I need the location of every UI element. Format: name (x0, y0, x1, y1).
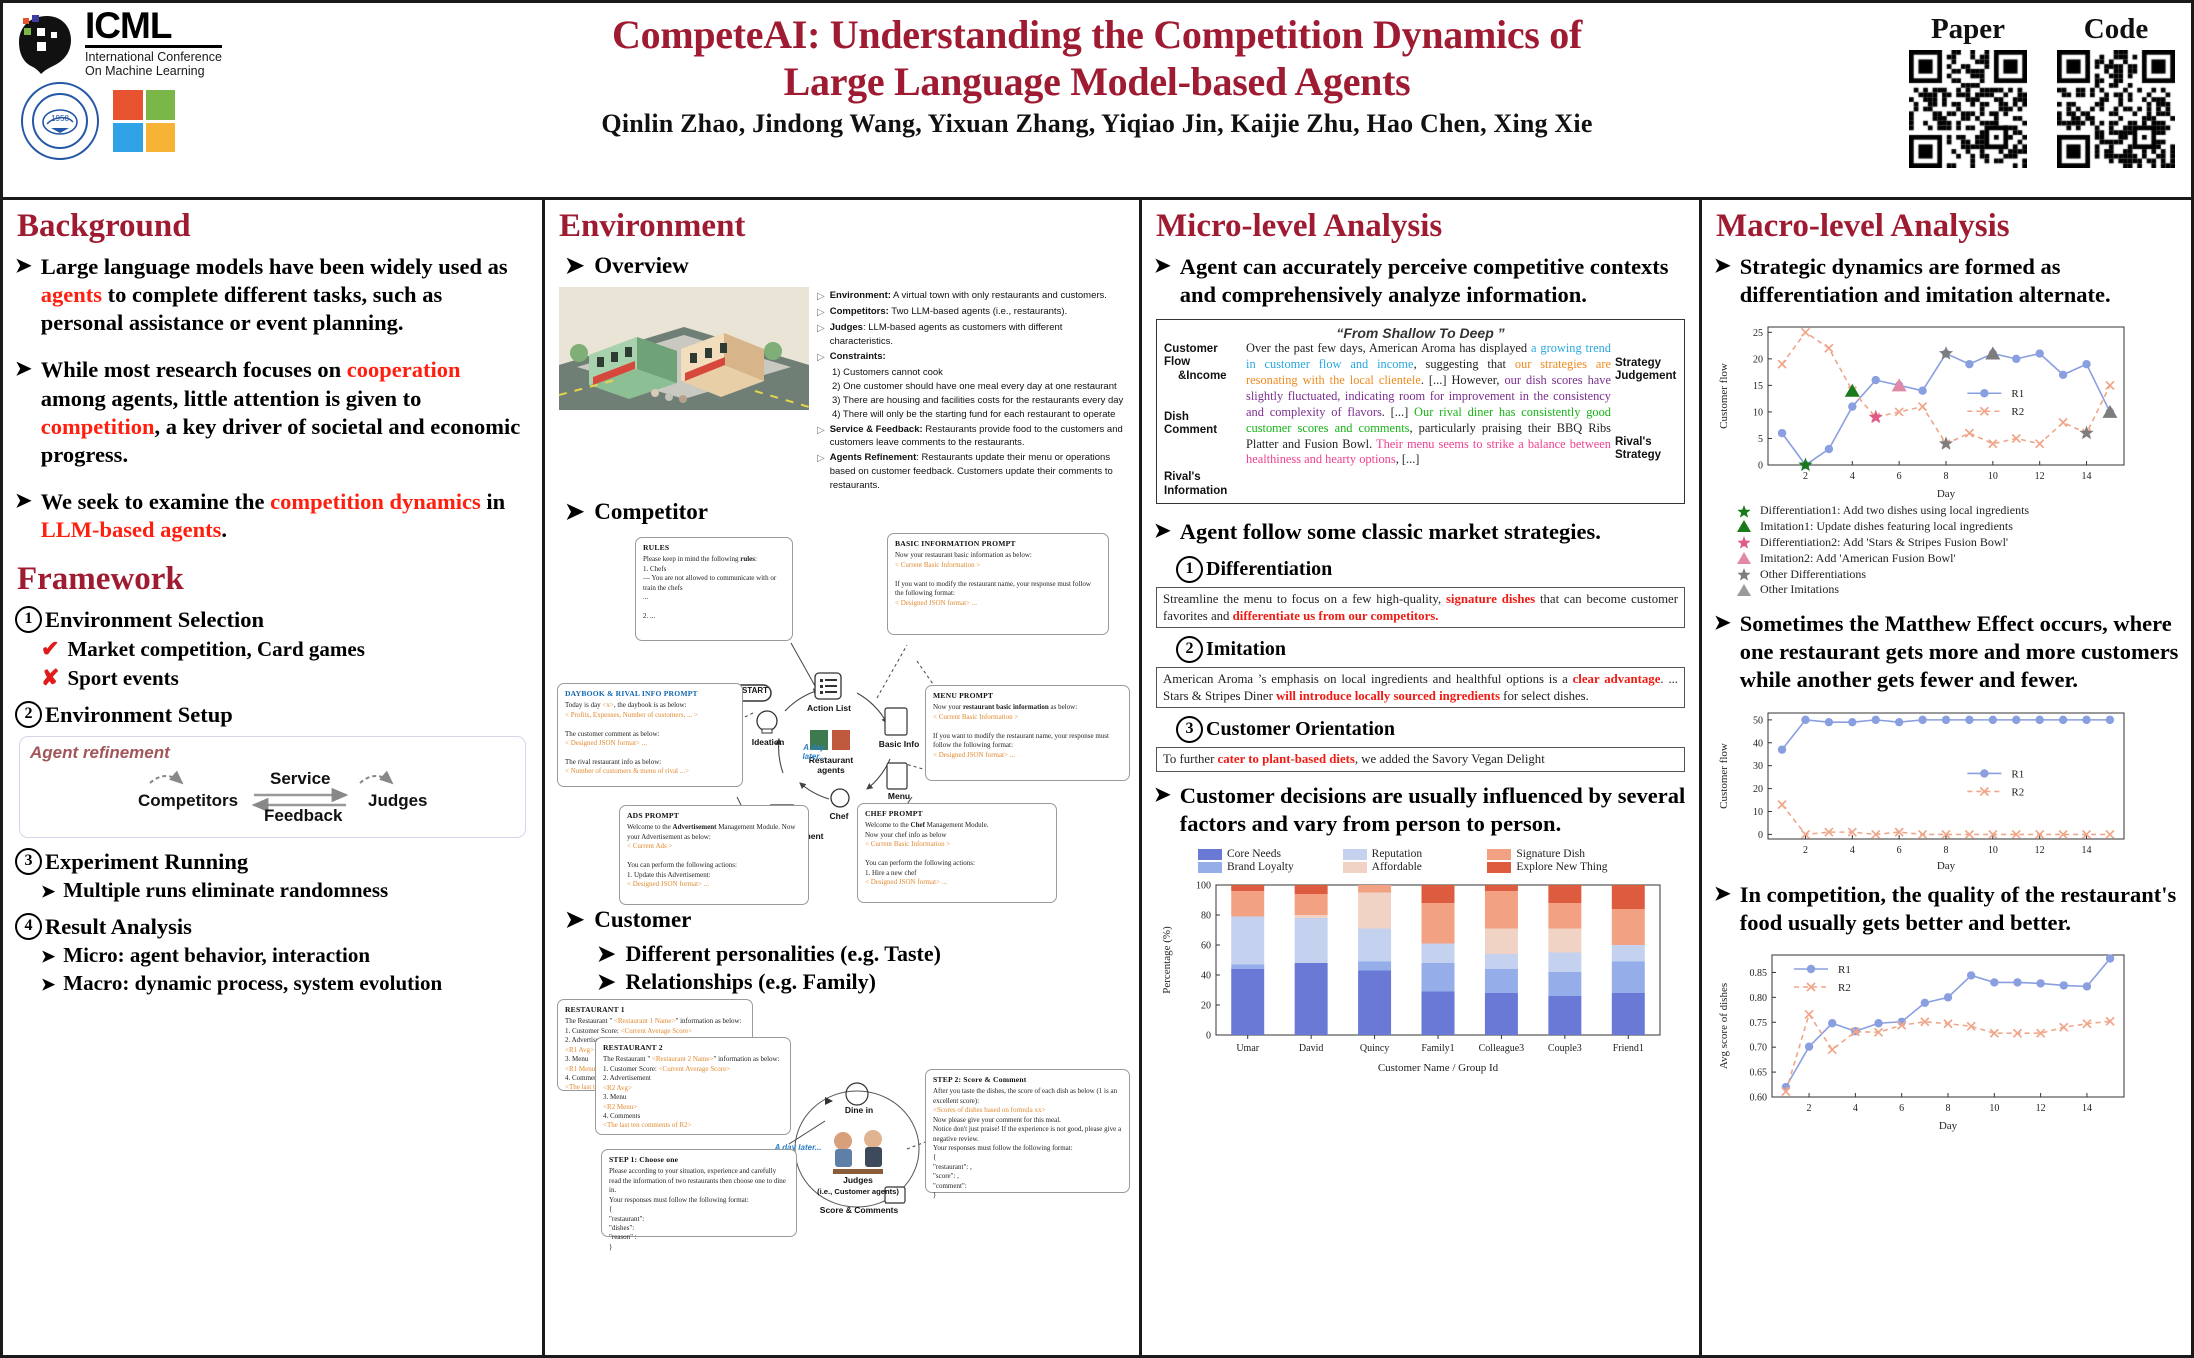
strategy-heading-1: 1Differentiation (1176, 556, 1687, 583)
step-number-badge: 3 (15, 848, 42, 875)
quote-label-strategy: Strategy (1615, 357, 1677, 370)
macro-bullet-2-text: Sometimes the Matthew Effect occurs, whe… (1740, 610, 2179, 694)
framework-substep: ➤Micro: agent behavior, interaction (41, 943, 530, 968)
quote-label-information: Information (1164, 485, 1242, 498)
svg-text:Family1: Family1 (1421, 1043, 1454, 1054)
macro-bullet-1: ➤ Strategic dynamics are formed as diffe… (1714, 253, 2179, 309)
svg-text:0.65: 0.65 (1750, 1067, 1768, 1078)
logo-group: ICML International Conference On Machine… (17, 7, 317, 160)
strategy-example-box: American Aroma ’s emphasis on local ingr… (1156, 667, 1685, 708)
svg-text:Avg score of dishes: Avg score of dishes (1718, 983, 1730, 1069)
prompt-card-title: MENU PROMPT (933, 691, 1122, 700)
icml-brain-logo (17, 12, 77, 74)
framework-substep: ➤Macro: dynamic process, system evolutio… (41, 971, 530, 996)
svg-text:4: 4 (1850, 845, 1855, 856)
environment-list-item: ▷Service & Feedback: Restaurants provide… (817, 423, 1127, 451)
micro-strategy-list: 1DifferentiationStreamline the menu to f… (1154, 556, 1687, 772)
background-bullet-text: We seek to examine the competition dynam… (41, 488, 530, 544)
svg-text:Customer flow: Customer flow (1718, 363, 1730, 429)
prompt-card-body: Now your restaurant basic information as… (895, 551, 1101, 608)
svg-text:50: 50 (1753, 715, 1763, 726)
micro-quote-title: “From Shallow To Deep ” (1164, 325, 1677, 341)
diagram-node-label: Action List (802, 703, 856, 713)
poster-title-line2: Large Language Model-based Agents (333, 58, 1861, 105)
star-marker-icon (1736, 567, 1752, 582)
svg-text:14: 14 (2082, 1103, 2092, 1114)
prompt-card-title: ADS PROMPT (627, 811, 801, 820)
legend-swatch (1343, 862, 1367, 873)
diagram-node-label: Judges (825, 1175, 891, 1185)
prompt-card-title: RESTAURANT 2 (603, 1043, 783, 1052)
quote-label-comment: Comment (1164, 424, 1242, 437)
framework-substep: ✘Sport events (41, 665, 530, 691)
substep-text: Macro: dynamic process, system evolution (63, 971, 442, 996)
triangle-marker-icon (1736, 551, 1752, 566)
arrow-bullet-icon: ➤ (1714, 881, 1731, 937)
ustc-year: 1958 (23, 114, 97, 123)
svg-text:Customer flow: Customer flow (1718, 743, 1730, 809)
legend-label: Brand Loyalty (1227, 861, 1294, 873)
svg-text:Customer Name / Group Id: Customer Name / Group Id (1378, 1062, 1499, 1074)
qr-code-code[interactable] (2057, 50, 2175, 168)
subhead-competitor: ➤ Competitor (565, 499, 1127, 525)
environment-constraint: 2) One customer should have one meal eve… (832, 380, 1127, 394)
chart-legend: Core NeedsReputationSignature DishBrand … (1198, 848, 1628, 873)
prompt-card-body: Welcome to the Chef Management Module.No… (865, 821, 1049, 887)
poster-root: ICML International Conference On Machine… (0, 0, 2194, 1358)
background-bullet-0: ➤Large language models have been widely … (15, 253, 530, 337)
legend-item: Affordable (1343, 861, 1484, 873)
framework-step-4: 4Result Analysis (15, 913, 530, 940)
agent-refinement-diagram: Agent refinementCompetitorsJudgesService… (19, 736, 526, 838)
stacked-bar-chart: 020406080100UmarDavidQuincyFamily1Collea… (1154, 875, 1674, 1075)
environment-overview-figure: ▷Environment: A virtual town with only r… (559, 287, 1127, 493)
svg-text:R2: R2 (2011, 786, 2024, 798)
prompt-card-title: STEP 2: Score & Comment (933, 1075, 1122, 1084)
qr-group: Paper Code (1909, 13, 2175, 173)
line-chart: 010203040502468101214DayCustomer flowR1R… (1714, 705, 2134, 873)
arrow-bullet-icon: ➤ (15, 253, 32, 337)
macro-legend-row: Differentiation1: Add two dishes using l… (1736, 503, 2179, 519)
subhead-customer-relationships: ➤ Relationships (e.g. Family) (597, 969, 1127, 995)
star-marker-icon (1736, 535, 1752, 550)
macro-legend-row: Imitation1: Update dishes featuring loca… (1736, 519, 2179, 535)
prompt-card: ADS PROMPTWelcome to the Advertisement M… (619, 805, 809, 905)
prompt-card-body: Please keep in mind the following rules:… (643, 555, 785, 621)
arrow-bullet-icon: ➤ (565, 907, 584, 933)
check-icon: ✔ (41, 636, 59, 662)
section-heading-micro: Micro-level Analysis (1156, 210, 1687, 243)
prompt-card-body: After you taste the dishes, the score of… (933, 1087, 1122, 1200)
svg-text:David: David (1299, 1043, 1323, 1054)
quote-label-strategy-2: Strategy (1615, 449, 1677, 462)
icml-subtitle-line2: On Machine Learning (85, 64, 222, 78)
customer-sub-1: Relationships (e.g. Family) (625, 969, 876, 995)
step-label: Result Analysis (45, 914, 192, 940)
svg-text:4: 4 (1853, 1103, 1858, 1114)
arrow-bullet-icon: ➤ (597, 941, 615, 967)
customer-prompt-card: STEP 1: Choose onePlease according to yo… (601, 1149, 797, 1237)
svg-text:Friend1: Friend1 (1613, 1043, 1644, 1054)
column-micro-analysis: Micro-level Analysis ➤ Agent can accurat… (1142, 200, 1702, 1355)
macro-bullet-2: ➤ Sometimes the Matthew Effect occurs, w… (1714, 610, 2179, 694)
arrow-bullet-icon: ➤ (597, 969, 615, 995)
qr-paper-code[interactable] (1909, 50, 2027, 168)
svg-text:8: 8 (1946, 1103, 1951, 1114)
legend-label: Core Needs (1227, 848, 1281, 860)
legend-swatch (1343, 849, 1367, 860)
macro-legend-row: Other Differentiations (1736, 567, 2179, 583)
arrow-bullet-icon: ➤ (15, 356, 32, 469)
strategy-title: Imitation (1206, 638, 1286, 661)
chart-strategic-dynamics: 05101520252468101214DayCustomer flowR1R2 (1714, 319, 2179, 501)
diagram-label-competitors: Competitors (138, 791, 238, 811)
line-chart: 05101520252468101214DayCustomer flowR1R2 (1714, 319, 2134, 501)
icml-wordmark: ICML (85, 7, 222, 48)
prompt-card-body: Today is day <x>, the daybook is as belo… (565, 701, 735, 777)
flag-bullet-icon: ▷ (817, 451, 825, 492)
strategy-title: Differentiation (1206, 558, 1332, 581)
diagram-node-label: Basic Info (875, 739, 923, 749)
diagram-node-label: Chef (819, 811, 859, 821)
macro-legend-text: Imitation1: Update dishes featuring loca… (1760, 519, 2013, 535)
qr-paper[interactable]: Paper (1909, 13, 2027, 173)
prompt-card: MENU PROMPTNow your restaurant basic inf… (925, 685, 1130, 781)
svg-text:Day: Day (1937, 488, 1956, 500)
substep-text: Market competition, Card games (67, 637, 364, 662)
section-heading-framework: Framework (17, 563, 530, 596)
background-bullet-2: ➤We seek to examine the competition dyna… (15, 488, 530, 544)
arrow-bullet-icon: ➤ (41, 882, 55, 902)
arrow-bullet-icon: ➤ (1154, 518, 1171, 546)
step-label: Environment Setup (45, 702, 233, 728)
micro-quote-text: Over the past few days, American Aroma h… (1246, 341, 1611, 498)
micro-bullet-2: ➤ Agent follow some classic market strat… (1154, 518, 1687, 546)
diagram-label-judges: Judges (368, 791, 428, 811)
svg-text:5: 5 (1758, 434, 1763, 445)
svg-text:40: 40 (1753, 738, 1763, 749)
macro-bullet-3: ➤ In competition, the quality of the res… (1714, 881, 2179, 937)
macro-legend-row: Other Imitations (1736, 582, 2179, 598)
macro-legend-text: Imitation2: Add 'American Fusion Bowl' (1760, 551, 1956, 567)
prompt-card-body: Now your restaurant basic information as… (933, 703, 1122, 760)
micro-bullet-3-text: Customer decisions are usually influence… (1180, 782, 1687, 838)
author-list: Qinlin Zhao, Jindong Wang, Yixuan Zhang,… (333, 109, 1861, 139)
svg-text:12: 12 (2035, 845, 2045, 856)
svg-text:R1: R1 (1838, 964, 1851, 976)
subhead-overview: ➤ Overview (565, 253, 1127, 279)
svg-text:R1: R1 (2011, 388, 2024, 400)
macro-bullet-1-text: Strategic dynamics are formed as differe… (1740, 253, 2179, 309)
background-bullet-text: While most research focuses on cooperati… (41, 356, 530, 469)
legend-item: Signature Dish (1487, 848, 1628, 860)
environment-list-item: ▷Agents Refinement: Restaurants update t… (817, 451, 1127, 492)
arrow-bullet-icon: ➤ (15, 488, 32, 544)
environment-list-item: ▷Judges: LLM-based agents as customers w… (817, 321, 1127, 349)
flag-bullet-icon: ▷ (817, 289, 825, 304)
strategy-example-box: To further cater to plant-based diets, w… (1156, 747, 1685, 772)
competitor-pipeline-figure: Action ListIdeationBasic InfoMenuChefAdv… (557, 533, 1127, 905)
legend-label: Affordable (1372, 861, 1422, 873)
svg-text:Colleague3: Colleague3 (1479, 1043, 1525, 1054)
line-chart: 0.600.650.700.750.800.852468101214DayAvg… (1714, 947, 2134, 1133)
macro-legend-notes: Differentiation1: Add two dishes using l… (1736, 503, 2179, 598)
diagram-node-label: Ideation (737, 737, 799, 747)
arrow-bullet-icon: ➤ (41, 975, 55, 995)
svg-text:0.75: 0.75 (1750, 1018, 1768, 1029)
diagram-node-label: Score & Comments (811, 1205, 907, 1215)
svg-text:8: 8 (1944, 845, 1949, 856)
svg-text:Percentage (%): Percentage (%) (1161, 926, 1173, 994)
svg-text:10: 10 (1753, 807, 1763, 818)
prompt-card-title: CHEF PROMPT (865, 809, 1049, 818)
substep-text: Micro: agent behavior, interaction (63, 943, 370, 968)
framework-step-3: 3Experiment Running (15, 848, 530, 875)
subhead-customer: ➤ Customer (565, 907, 1127, 933)
svg-text:6: 6 (1897, 471, 1902, 482)
legend-item: Core Needs (1198, 848, 1339, 860)
svg-text:60: 60 (1201, 941, 1211, 952)
svg-text:6: 6 (1897, 845, 1902, 856)
legend-label: Reputation (1372, 848, 1422, 860)
column-environment: Environment ➤ Overview (545, 200, 1142, 1355)
macro-legend-text: Differentiation2: Add 'Stars & Stripes F… (1760, 535, 2008, 551)
ustc-logo: 1958 (21, 82, 99, 160)
strategy-heading-3: 3Customer Orientation (1176, 716, 1687, 743)
legend-label: Explore New Thing (1516, 861, 1607, 873)
subhead-customer-label: Customer (594, 907, 691, 933)
environment-constraint: 1) Customers cannot cook (832, 366, 1127, 380)
svg-text:R2: R2 (2011, 406, 2024, 418)
subhead-competitor-label: Competitor (594, 499, 708, 525)
flag-bullet-icon: ▷ (817, 350, 825, 365)
legend-swatch (1198, 862, 1222, 873)
svg-text:Day: Day (1937, 860, 1956, 872)
legend-swatch (1487, 849, 1511, 860)
svg-text:20: 20 (1753, 355, 1763, 366)
chart-customer-factors: Core NeedsReputationSignature DishBrand … (1154, 848, 1687, 1075)
arrow-bullet-icon: ➤ (1154, 782, 1171, 838)
background-bullet-1: ➤While most research focuses on cooperat… (15, 356, 530, 469)
svg-text:Umar: Umar (1236, 1043, 1259, 1054)
subhead-overview-label: Overview (594, 253, 689, 279)
diagram-label-feedback: Feedback (264, 806, 342, 826)
step-number-badge: 2 (15, 701, 42, 728)
qr-paper-label: Paper (1909, 13, 2027, 46)
substep-text: Sport events (67, 666, 178, 691)
quote-label-dish: Dish (1164, 411, 1242, 424)
svg-text:R2: R2 (1838, 982, 1851, 994)
arrow-bullet-icon: ➤ (1714, 610, 1731, 694)
prompt-card: DAYBOOK & RIVAL INFO PROMPTToday is day … (557, 683, 743, 787)
macro-legend-text: Other Imitations (1760, 582, 1839, 598)
svg-text:10: 10 (1988, 471, 1998, 482)
environment-list-item: ▷Constraints: (817, 350, 1127, 365)
svg-text:10: 10 (1988, 845, 1998, 856)
macro-legend-row: Imitation2: Add 'American Fusion Bowl' (1736, 551, 2179, 567)
prompt-card: CHEF PROMPTWelcome to the Chef Managemen… (857, 803, 1057, 903)
customer-prompt-card: RESTAURANT 2The Restaurant " <Restaurant… (595, 1037, 791, 1135)
svg-text:10: 10 (1753, 408, 1763, 419)
prompt-card: RULESPlease keep in mind the following r… (635, 537, 793, 641)
svg-text:40: 40 (1201, 971, 1211, 982)
environment-bullet-list: ▷Environment: A virtual town with only r… (817, 287, 1127, 493)
legend-item: Explore New Thing (1487, 861, 1628, 873)
cross-icon: ✘ (41, 665, 59, 691)
svg-text:8: 8 (1944, 471, 1949, 482)
micro-bullet-1-text: Agent can accurately perceive competitiv… (1180, 253, 1687, 309)
microsoft-logo (113, 90, 175, 152)
substep-text: Multiple runs eliminate randomness (63, 878, 388, 903)
customer-prompt-card: STEP 2: Score & CommentAfter you taste t… (925, 1069, 1130, 1193)
micro-quote-box: “From Shallow To Deep ” Customer Flow &I… (1156, 319, 1685, 504)
prompt-card-title: RESTAURANT 1 (565, 1005, 745, 1014)
strategy-example-box: Streamline the menu to focus on a few hi… (1156, 587, 1685, 628)
flag-bullet-icon: ▷ (817, 305, 825, 320)
qr-code-label: Code (2057, 13, 2175, 46)
arrow-bullet-icon: ➤ (41, 947, 55, 967)
macro-legend-text: Differentiation1: Add two dishes using l… (1760, 503, 2029, 519)
macro-legend-row: Differentiation2: Add 'Stars & Stripes F… (1736, 535, 2179, 551)
legend-item: Brand Loyalty (1198, 861, 1339, 873)
strategy-number-badge: 3 (1176, 716, 1203, 743)
svg-text:0.70: 0.70 (1750, 1043, 1768, 1054)
title-block: CompeteAI: Understanding the Competition… (333, 11, 1861, 139)
svg-text:15: 15 (1753, 381, 1763, 392)
poster-title-line1: CompeteAI: Understanding the Competition… (333, 11, 1861, 58)
legend-swatch (1198, 849, 1222, 860)
svg-text:0.80: 0.80 (1750, 993, 1768, 1004)
framework-step-list: 1Environment Selection✔Market competitio… (15, 606, 530, 996)
background-bullet-list: ➤Large language models have been widely … (15, 253, 530, 544)
section-heading-background: Background (17, 210, 530, 243)
svg-text:2: 2 (1803, 471, 1808, 482)
arrow-bullet-icon: ➤ (565, 499, 584, 525)
prompt-card: BASIC INFORMATION PROMPTNow your restaur… (887, 533, 1109, 635)
prompt-card-body: Welcome to the Advertisement Management … (627, 823, 801, 889)
arrow-bullet-icon: ➤ (565, 253, 584, 279)
svg-text:100: 100 (1196, 881, 1211, 892)
micro-bullet-1: ➤ Agent can accurately perceive competit… (1154, 253, 1687, 309)
environment-list-item: ▷Environment: A virtual town with only r… (817, 289, 1127, 304)
framework-substep: ✔Market competition, Card games (41, 636, 530, 662)
environment-constraint: 3) There are housing and facilities cost… (832, 394, 1127, 408)
prompt-card-title: BASIC INFORMATION PROMPT (895, 539, 1101, 548)
step-label: Environment Selection (45, 607, 264, 633)
background-bullet-text: Large language models have been widely u… (41, 253, 530, 337)
virtual-town-illustration (559, 287, 809, 410)
poster-header: ICML International Conference On Machine… (3, 3, 2191, 200)
strategy-number-badge: 1 (1176, 556, 1203, 583)
strategy-heading-2: 2Imitation (1176, 636, 1687, 663)
diagram-node-label: Dine in (833, 1105, 885, 1115)
section-heading-environment: Environment (559, 210, 1127, 243)
agent-refinement-title: Agent refinement (30, 743, 515, 763)
icml-subtitle-line1: International Conference (85, 50, 222, 64)
macro-legend-text: Other Differentiations (1760, 567, 1866, 583)
macro-bullet-3-text: In competition, the quality of the resta… (1740, 881, 2179, 937)
legend-swatch (1487, 862, 1511, 873)
environment-constraint: 4) There will only be the starting fund … (832, 408, 1127, 422)
qr-code-link[interactable]: Code (2057, 13, 2175, 173)
svg-text:20: 20 (1753, 784, 1763, 795)
quote-label-customer-flow: Customer Flow (1164, 343, 1242, 369)
customer-pipeline-figure: Dine inJudges(i.e., Customer agents)Scor… (557, 999, 1127, 1239)
svg-text:14: 14 (2082, 471, 2092, 482)
micro-bullet-3: ➤ Customer decisions are usually influen… (1154, 782, 1687, 838)
svg-text:Day: Day (1939, 1120, 1958, 1132)
framework-substep: ➤Multiple runs eliminate randomness (41, 878, 530, 903)
svg-text:20: 20 (1201, 1001, 1211, 1012)
star-marker-icon (1736, 504, 1752, 519)
svg-text:6: 6 (1899, 1103, 1904, 1114)
legend-label: Signature Dish (1516, 848, 1585, 860)
quote-label-rivals: Rival's (1164, 471, 1242, 484)
micro-bullet-2-text: Agent follow some classic market strateg… (1180, 518, 1601, 546)
prompt-card-body: Please according to your situation, expe… (609, 1167, 789, 1252)
svg-text:2: 2 (1807, 1103, 1812, 1114)
step-number-badge: 4 (15, 913, 42, 940)
section-heading-macro: Macro-level Analysis (1716, 210, 2179, 243)
quote-label-income: &Income (1178, 370, 1242, 383)
quote-label-judgement: Judgement (1615, 370, 1677, 383)
svg-text:0.85: 0.85 (1750, 968, 1768, 979)
environment-list-item: ▷Competitors: Two LLM-based agents (i.e.… (817, 305, 1127, 320)
step-label: Experiment Running (45, 849, 248, 875)
arrow-bullet-icon: ➤ (1154, 253, 1171, 309)
strategy-number-badge: 2 (1176, 636, 1203, 663)
svg-text:30: 30 (1753, 761, 1763, 772)
framework-step-1: 1Environment Selection (15, 606, 530, 633)
svg-text:4: 4 (1850, 471, 1855, 482)
column-macro-analysis: Macro-level Analysis ➤ Strategic dynamic… (1702, 200, 2191, 1355)
flag-bullet-icon: ▷ (817, 423, 825, 451)
prompt-card-body: The Restaurant " <Restaurant 2 Name>" in… (603, 1055, 783, 1131)
svg-text:0.60: 0.60 (1750, 1092, 1768, 1103)
diagram-label-service: Service (270, 769, 331, 789)
svg-text:12: 12 (2035, 471, 2045, 482)
legend-item: Reputation (1343, 848, 1484, 860)
svg-text:0: 0 (1758, 830, 1763, 841)
poster-columns: Background ➤Large language models have b… (3, 200, 2191, 1355)
svg-text:0: 0 (1758, 461, 1763, 472)
prompt-card-title: RULES (643, 543, 785, 552)
chart-matthew-effect: 010203040502468101214DayCustomer flowR1R… (1714, 705, 2179, 873)
flag-bullet-icon: ▷ (817, 321, 825, 349)
svg-text:10: 10 (1989, 1103, 1999, 1114)
triangle-marker-icon (1736, 519, 1752, 534)
svg-text:0: 0 (1206, 1031, 1211, 1042)
svg-text:Quincy: Quincy (1360, 1043, 1389, 1054)
column-background-framework: Background ➤Large language models have b… (3, 200, 545, 1355)
strategy-title: Customer Orientation (1206, 718, 1395, 741)
svg-text:Couple3: Couple3 (1548, 1043, 1582, 1054)
svg-text:12: 12 (2036, 1103, 2046, 1114)
framework-step-2: 2Environment Setup (15, 701, 530, 728)
arrow-bullet-icon: ➤ (1714, 253, 1731, 309)
svg-text:R1: R1 (2011, 768, 2024, 780)
subhead-customer-personalities: ➤ Different personalities (e.g. Taste) (597, 941, 1127, 967)
customer-sub-0: Different personalities (e.g. Taste) (625, 941, 941, 967)
prompt-card-title: DAYBOOK & RIVAL INFO PROMPT (565, 689, 735, 698)
svg-text:25: 25 (1753, 328, 1763, 339)
quote-label-rivals-2: Rival's (1615, 436, 1677, 449)
svg-text:80: 80 (1201, 911, 1211, 922)
step-number-badge: 1 (15, 606, 42, 633)
diagram-node-label: Menu (879, 791, 919, 801)
chart-dish-quality: 0.600.650.700.750.800.852468101214DayAvg… (1714, 947, 2179, 1133)
diagram-node-label: A daylater... (793, 743, 835, 761)
